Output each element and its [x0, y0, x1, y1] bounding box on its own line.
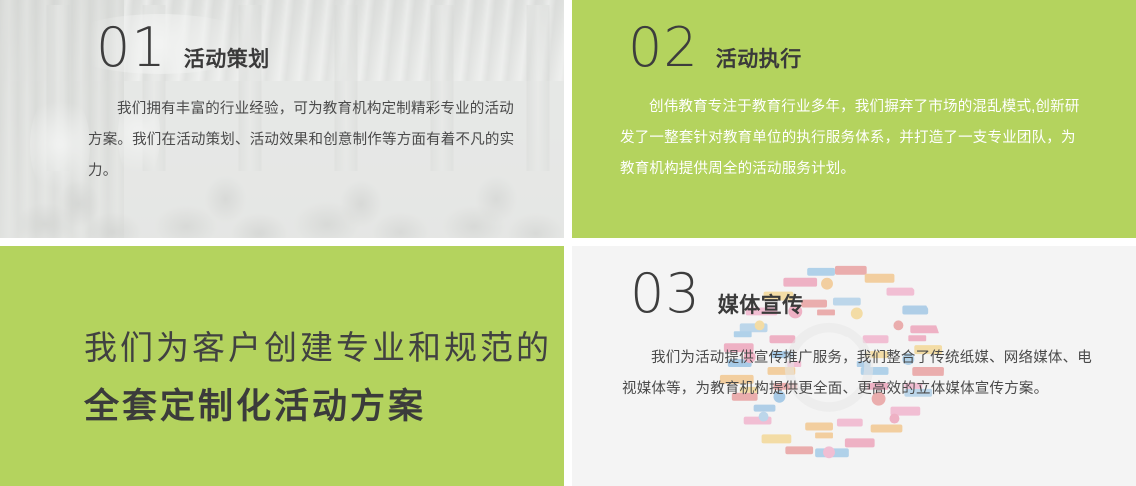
panel-header: 01 活动策划 [0, 0, 564, 75]
panel-media-promotion: 03 媒体宣传 我们为活动提供宣传推广服务，我们整合了传统纸媒、网络媒体、电视媒… [572, 246, 1136, 486]
slogan-line-1: 我们为客户创建专业和规范的 [84, 326, 564, 371]
panel-header: 02 活动执行 [572, 0, 1136, 75]
panel-body-text: 我们为活动提供宣传推广服务，我们整合了传统纸媒、网络媒体、电视媒体等，为教育机构… [622, 343, 1100, 405]
panel-activity-execution: 02 活动执行 创伟教育专注于教育行业多年，我们摒弃了市场的混乱模式,创新研发了… [572, 0, 1136, 238]
panel-number: 02 [628, 21, 699, 75]
panel-title: 活动执行 [716, 43, 802, 73]
panel-title: 媒体宣传 [718, 289, 804, 319]
panel-number: 01 [96, 21, 167, 75]
panel-body-text: 创伟教育专注于教育行业多年，我们摒弃了市场的混乱模式,创新研发了一整套针对教育单… [620, 92, 1090, 185]
slogan-block: 我们为客户创建专业和规范的 全套定制化活动方案 [0, 246, 564, 430]
feature-grid: 01 活动策划 我们拥有丰富的行业经验，可为教育机构定制精彩专业的活动方案。我们… [0, 0, 1136, 486]
panel-activity-planning: 01 活动策划 我们拥有丰富的行业经验，可为教育机构定制精彩专业的活动方案。我们… [0, 0, 564, 238]
slogan-line-2: 全套定制化活动方案 [84, 383, 564, 430]
panel-title: 活动策划 [184, 43, 270, 73]
panel-number: 03 [630, 267, 701, 321]
panel-header: 03 媒体宣传 [572, 246, 1136, 321]
panel-body-text: 我们拥有丰富的行业经验，可为教育机构定制精彩专业的活动方案。我们在活动策划、活动… [88, 94, 524, 187]
panel-slogan: 我们为客户创建专业和规范的 全套定制化活动方案 [0, 246, 564, 486]
